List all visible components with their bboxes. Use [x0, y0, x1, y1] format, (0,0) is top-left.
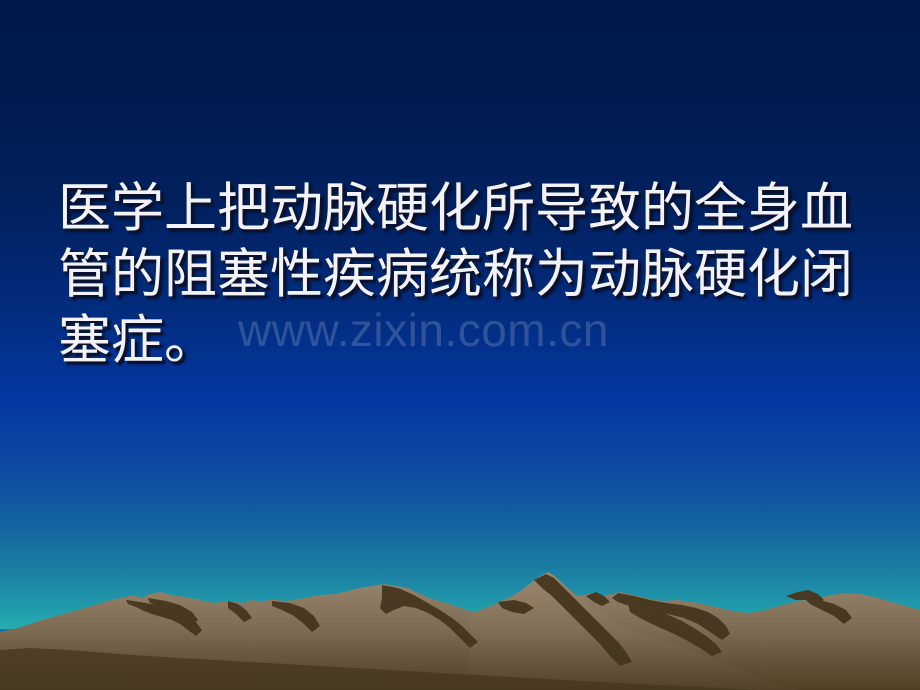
presentation-slide: www.zixin.com.cn 医学上把动脉硬化所导致的全身血管的阻塞性疾病统…	[0, 0, 920, 690]
mountain-silhouette	[0, 570, 920, 690]
slide-body-text: 医学上把动脉硬化所导致的全身血管的阻塞性疾病统称为动脉硬化闭塞症。	[58, 176, 878, 374]
